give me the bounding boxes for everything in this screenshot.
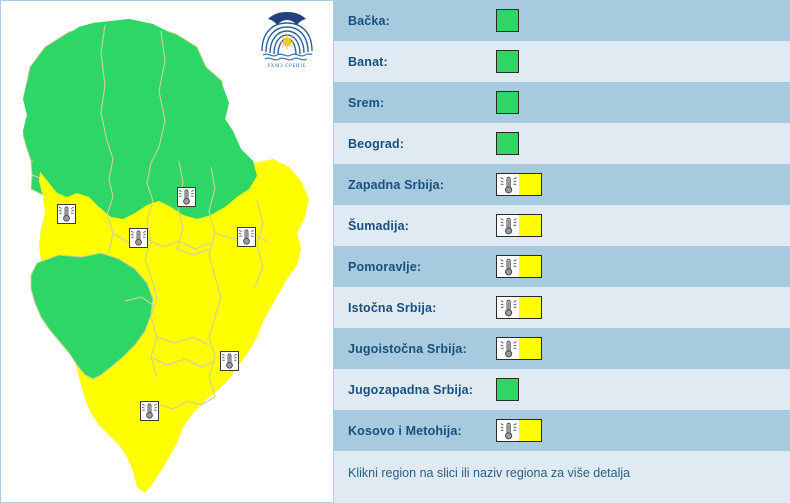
region-label-backa[interactable]: Bačka: bbox=[348, 14, 496, 28]
list-item[interactable]: Bačka: bbox=[334, 0, 790, 41]
region-label-kosovo-i-metohija[interactable]: Kosovo i Metohija: bbox=[348, 424, 496, 438]
warning-map-app: РХМЗ СРБИЈЕ bbox=[0, 0, 790, 503]
status-badge-yellow bbox=[519, 296, 542, 319]
warning-swatch-banat bbox=[496, 50, 519, 74]
warning-swatch-jugozapadna-srbija bbox=[496, 378, 519, 402]
marker-jugoistocna-srbija[interactable] bbox=[220, 351, 239, 371]
status-badge-yellow bbox=[519, 337, 542, 360]
thermometer-heat-icon bbox=[496, 255, 519, 278]
list-item[interactable]: Banat: bbox=[334, 41, 790, 82]
status-badge-green bbox=[496, 91, 519, 114]
thermometer-heat-icon bbox=[496, 337, 519, 360]
list-item[interactable]: Srem: bbox=[334, 82, 790, 123]
svg-text:РХМЗ СРБИЈЕ: РХМЗ СРБИЈЕ bbox=[268, 64, 306, 69]
thermometer-heat-icon bbox=[58, 205, 75, 223]
rhmz-serbia-logo: РХМЗ СРБИЈЕ bbox=[254, 7, 320, 71]
warning-swatch-srem bbox=[496, 91, 519, 115]
warning-swatch-beograd bbox=[496, 132, 519, 156]
warning-swatch-zapadna-srbija bbox=[496, 173, 542, 197]
warning-swatch-jugoistocna-srbija bbox=[496, 337, 542, 361]
thermometer-heat-icon bbox=[496, 296, 519, 319]
region-label-jugoistocna-srbija[interactable]: Jugoistočna Srbija: bbox=[348, 342, 496, 356]
thermometer-heat-icon bbox=[221, 352, 238, 370]
marker-pomoravlje[interactable] bbox=[177, 187, 196, 207]
thermometer-heat-icon bbox=[496, 419, 519, 442]
marker-sumadija[interactable] bbox=[129, 228, 148, 248]
warning-swatch-kosovo-i-metohija bbox=[496, 419, 542, 443]
region-label-banat[interactable]: Banat: bbox=[348, 55, 496, 69]
list-item[interactable]: Beograd: bbox=[334, 123, 790, 164]
thermometer-heat-icon bbox=[238, 228, 255, 246]
region-label-srem[interactable]: Srem: bbox=[348, 96, 496, 110]
warning-swatch-sumadija bbox=[496, 214, 542, 238]
marker-istocna-srbija[interactable] bbox=[237, 227, 256, 247]
thermometer-heat-icon bbox=[141, 402, 158, 420]
list-item[interactable]: Jugozapadna Srbija: bbox=[334, 369, 790, 410]
map-instruction-note: Klikni region na slici ili naziv regiona… bbox=[334, 451, 790, 495]
warning-swatch-istocna-srbija bbox=[496, 296, 542, 320]
status-badge-green bbox=[496, 9, 519, 32]
region-label-pomoravlje[interactable]: Pomoravlje: bbox=[348, 260, 496, 274]
region-label-beograd[interactable]: Beograd: bbox=[348, 137, 496, 151]
thermometer-heat-icon bbox=[496, 214, 519, 237]
marker-kosovo-i-metohija[interactable] bbox=[140, 401, 159, 421]
thermometer-heat-icon bbox=[496, 173, 519, 196]
region-label-istocna-srbija[interactable]: Istočna Srbija: bbox=[348, 301, 496, 315]
thermometer-heat-icon bbox=[130, 229, 147, 247]
status-badge-yellow bbox=[519, 255, 542, 278]
status-badge-green bbox=[496, 378, 519, 401]
serbia-region-map[interactable] bbox=[1, 1, 334, 503]
region-warning-list: Bačka: Banat: Srem: Beograd: Zapadna Srb bbox=[334, 0, 790, 503]
status-badge-yellow bbox=[519, 173, 542, 196]
warning-swatch-backa bbox=[496, 9, 519, 33]
list-item[interactable]: Istočna Srbija: bbox=[334, 287, 790, 328]
region-label-zapadna-srbija[interactable]: Zapadna Srbija: bbox=[348, 178, 496, 192]
region-label-sumadija[interactable]: Šumadija: bbox=[348, 219, 496, 233]
status-badge-green bbox=[496, 132, 519, 155]
thermometer-heat-icon bbox=[178, 188, 195, 206]
list-item[interactable]: Šumadija: bbox=[334, 205, 790, 246]
region-label-jugozapadna-srbija[interactable]: Jugozapadna Srbija: bbox=[348, 383, 496, 397]
status-badge-green bbox=[496, 50, 519, 73]
list-item[interactable]: Jugoistočna Srbija: bbox=[334, 328, 790, 369]
list-item[interactable]: Pomoravlje: bbox=[334, 246, 790, 287]
warning-swatch-pomoravlje bbox=[496, 255, 542, 279]
list-item[interactable]: Zapadna Srbija: bbox=[334, 164, 790, 205]
marker-zapadna-srbija[interactable] bbox=[57, 204, 76, 224]
map-panel[interactable]: РХМЗ СРБИЈЕ bbox=[0, 0, 334, 503]
status-badge-yellow bbox=[519, 419, 542, 442]
map-green-overlay bbox=[23, 19, 257, 219]
list-item[interactable]: Kosovo i Metohija: bbox=[334, 410, 790, 451]
status-badge-yellow bbox=[519, 214, 542, 237]
